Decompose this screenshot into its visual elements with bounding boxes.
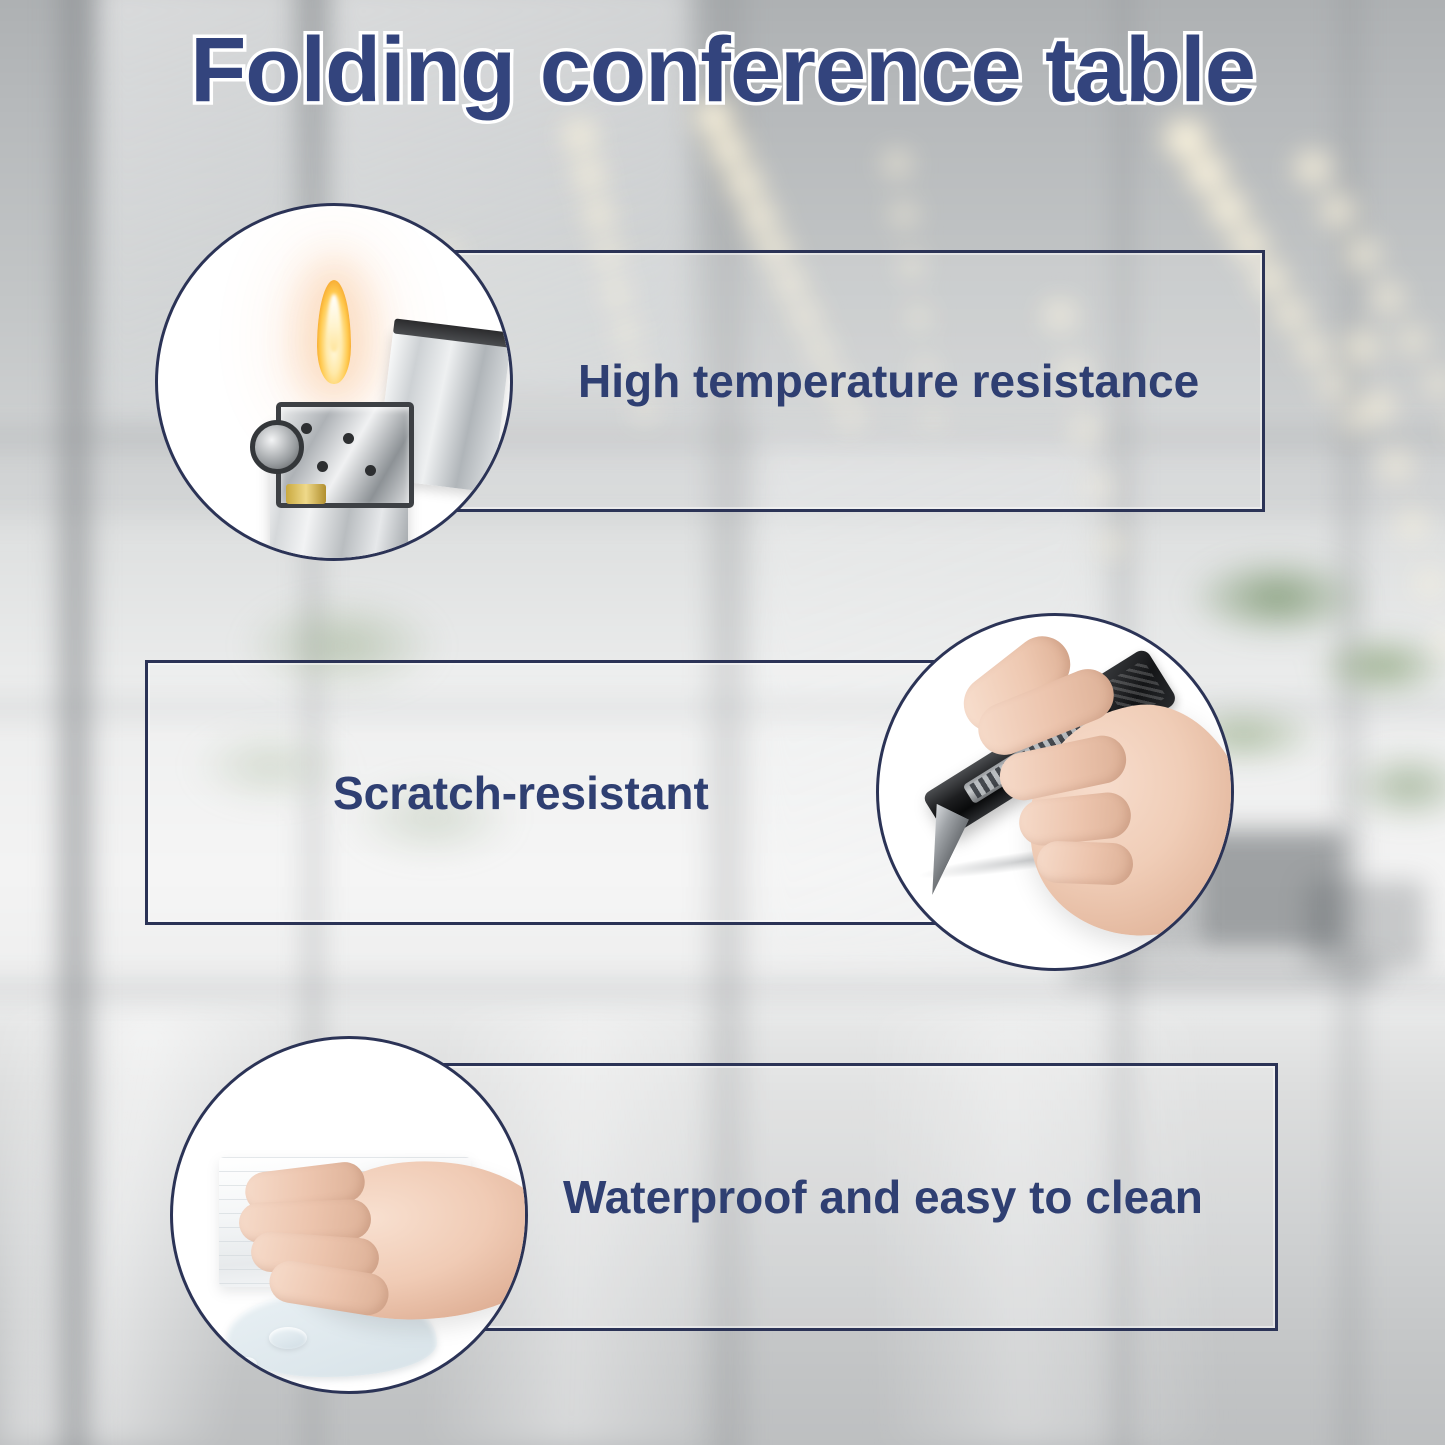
ceiling-light [1182, 154, 1232, 193]
ceiling-light [1096, 532, 1127, 556]
lighter-flint-wheel [250, 420, 304, 474]
ceiling-light [1340, 330, 1384, 364]
ceiling-light [1270, 298, 1312, 331]
water-droplet [235, 1357, 257, 1371]
lighter-rivet [343, 433, 354, 444]
knife-blade [900, 804, 969, 895]
wiping-cloth-photo [173, 1039, 525, 1391]
water-droplet [269, 1327, 307, 1349]
ceiling-light [580, 200, 617, 229]
feature-image-wiping-cloth [170, 1036, 528, 1394]
finger [1036, 840, 1133, 885]
feature-label-waterproof-easy-clean: Waterproof and easy to clean [563, 1170, 1203, 1224]
ceiling-light [1204, 190, 1252, 228]
ceiling-light [570, 160, 608, 190]
feature-box-waterproof-easy-clean: Waterproof and easy to clean [435, 1063, 1278, 1331]
lighter-rivet [301, 423, 312, 434]
ceiling-light [722, 166, 767, 201]
page-title: Folding conference table [0, 18, 1445, 123]
ceiling-light [738, 200, 781, 234]
ceiling-light [1290, 150, 1336, 186]
office-furniture [1305, 880, 1425, 970]
feature-box-scratch-resistant: Scratch-resistant [145, 660, 990, 925]
ceiling-light [880, 150, 914, 177]
ceiling-light [1342, 238, 1384, 271]
feature-label-high-temperature-resistance: High temperature resistance [578, 354, 1199, 408]
ceiling-light [1368, 282, 1408, 313]
ceiling-light [1316, 194, 1360, 228]
infographic-canvas: Folding conference table High temperatur… [0, 0, 1445, 1445]
feature-image-lighter-flame [155, 203, 513, 561]
lighter-rivet [317, 461, 328, 472]
flame-icon [317, 280, 351, 384]
ceiling-light [1314, 370, 1352, 400]
ceiling-light [1160, 118, 1212, 159]
structural-column [52, 0, 98, 1445]
utility-knife-photo [879, 616, 1231, 968]
ceiling-light [1376, 450, 1416, 481]
lighter-rivet [365, 465, 376, 476]
feature-label-scratch-resistant: Scratch-resistant [333, 766, 709, 820]
ceiling-light [1412, 570, 1445, 597]
ceiling-light [560, 120, 600, 151]
lighter-flame-photo [158, 206, 510, 558]
feature-image-utility-knife [876, 613, 1234, 971]
feature-box-high-temperature-resistance: High temperature resistance [420, 250, 1265, 512]
lighter-flint [286, 484, 326, 504]
ceiling-light [1394, 326, 1432, 355]
ceiling-light [1358, 390, 1400, 423]
